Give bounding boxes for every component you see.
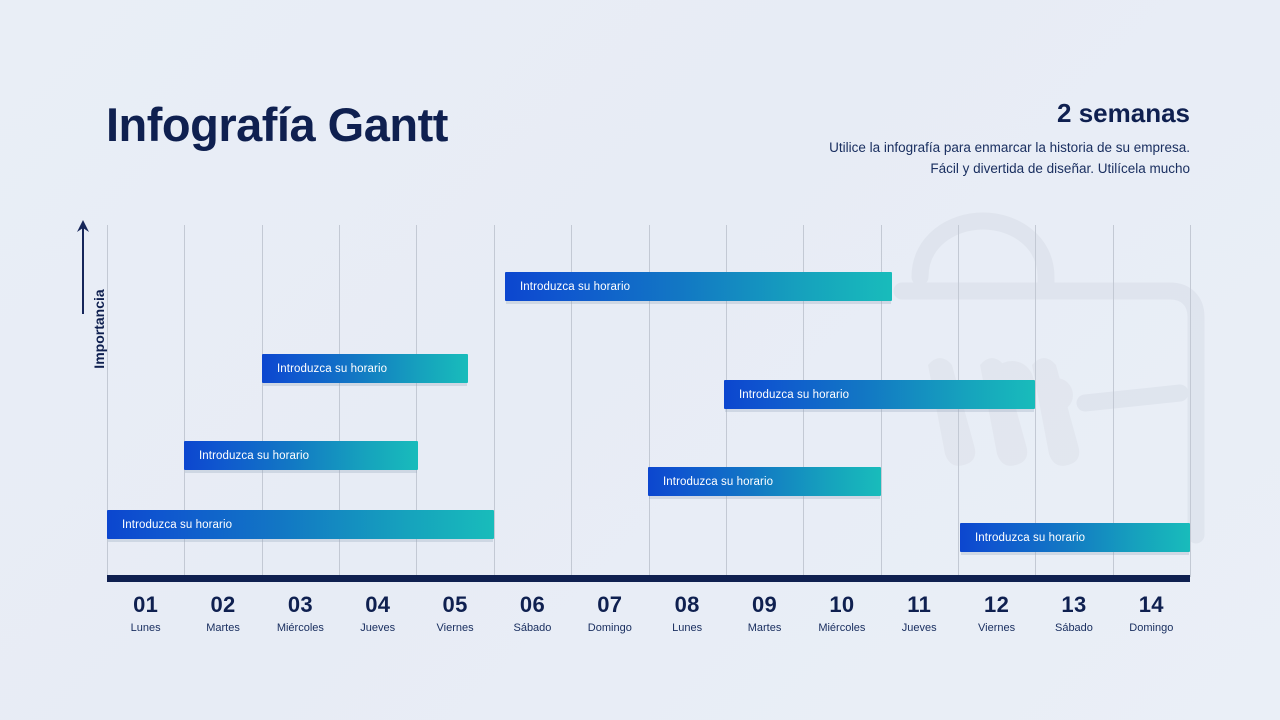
date-weekday: Domingo xyxy=(571,620,648,636)
date-number: 08 xyxy=(649,592,726,618)
date-weekday: Sábado xyxy=(1035,620,1112,636)
date-number: 05 xyxy=(416,592,493,618)
date-number: 07 xyxy=(571,592,648,618)
gantt-bar[interactable]: Introduzca su horario xyxy=(107,510,494,539)
date-axis-tick: 09Martes xyxy=(726,592,803,636)
date-axis-tick: 06Sábado xyxy=(494,592,571,636)
gantt-bar[interactable]: Introduzca su horario xyxy=(724,380,1035,409)
gantt-bar-label: Introduzca su horario xyxy=(724,389,849,401)
date-number: 04 xyxy=(339,592,416,618)
gridline xyxy=(494,225,495,577)
date-weekday: Jueves xyxy=(339,620,416,636)
gridline xyxy=(1190,225,1191,577)
date-number: 01 xyxy=(107,592,184,618)
gantt-bar-label: Introduzca su horario xyxy=(960,532,1085,544)
gantt-bar-label: Introduzca su horario xyxy=(184,450,309,462)
date-weekday: Martes xyxy=(726,620,803,636)
date-number: 12 xyxy=(958,592,1035,618)
date-axis-tick: 03Miércoles xyxy=(262,592,339,636)
date-axis-tick: 01Lunes xyxy=(107,592,184,636)
date-axis-tick: 13Sábado xyxy=(1035,592,1112,636)
date-number: 14 xyxy=(1113,592,1190,618)
date-weekday: Viernes xyxy=(958,620,1035,636)
gantt-bar-label: Introduzca su horario xyxy=(505,281,630,293)
date-weekday: Miércoles xyxy=(262,620,339,636)
date-axis-tick: 07Domingo xyxy=(571,592,648,636)
date-weekday: Viernes xyxy=(416,620,493,636)
date-axis-tick: 14Domingo xyxy=(1113,592,1190,636)
gantt-bar[interactable]: Introduzca su horario xyxy=(262,354,468,383)
date-number: 09 xyxy=(726,592,803,618)
date-number: 10 xyxy=(803,592,880,618)
date-weekday: Domingo xyxy=(1113,620,1190,636)
gantt-chart: Importancia Introduzca su horarioIntrodu… xyxy=(0,0,1280,720)
gantt-bar[interactable]: Introduzca su horario xyxy=(960,523,1190,552)
date-axis-tick: 08Lunes xyxy=(649,592,726,636)
date-axis-tick: 05Viernes xyxy=(416,592,493,636)
date-number: 11 xyxy=(881,592,958,618)
date-weekday: Miércoles xyxy=(803,620,880,636)
date-number: 03 xyxy=(262,592,339,618)
date-axis-tick: 04Jueves xyxy=(339,592,416,636)
date-weekday: Lunes xyxy=(649,620,726,636)
date-axis-tick: 10Miércoles xyxy=(803,592,880,636)
date-number: 13 xyxy=(1035,592,1112,618)
date-weekday: Sábado xyxy=(494,620,571,636)
date-weekday: Martes xyxy=(184,620,261,636)
date-axis-tick: 11Jueves xyxy=(881,592,958,636)
gantt-bar-label: Introduzca su horario xyxy=(262,363,387,375)
gantt-bar-label: Introduzca su horario xyxy=(648,476,773,488)
date-axis-tick: 12Viernes xyxy=(958,592,1035,636)
x-axis-line xyxy=(107,575,1190,582)
date-number: 06 xyxy=(494,592,571,618)
date-number: 02 xyxy=(184,592,261,618)
date-axis: 01Lunes02Martes03Miércoles04Jueves05Vier… xyxy=(107,592,1190,647)
gantt-bar-label: Introduzca su horario xyxy=(107,519,232,531)
y-axis: Importancia xyxy=(60,218,106,578)
gantt-bar[interactable]: Introduzca su horario xyxy=(505,272,892,301)
date-weekday: Jueves xyxy=(881,620,958,636)
date-weekday: Lunes xyxy=(107,620,184,636)
gantt-bar[interactable]: Introduzca su horario xyxy=(184,441,418,470)
date-axis-tick: 02Martes xyxy=(184,592,261,636)
gantt-bar[interactable]: Introduzca su horario xyxy=(648,467,881,496)
